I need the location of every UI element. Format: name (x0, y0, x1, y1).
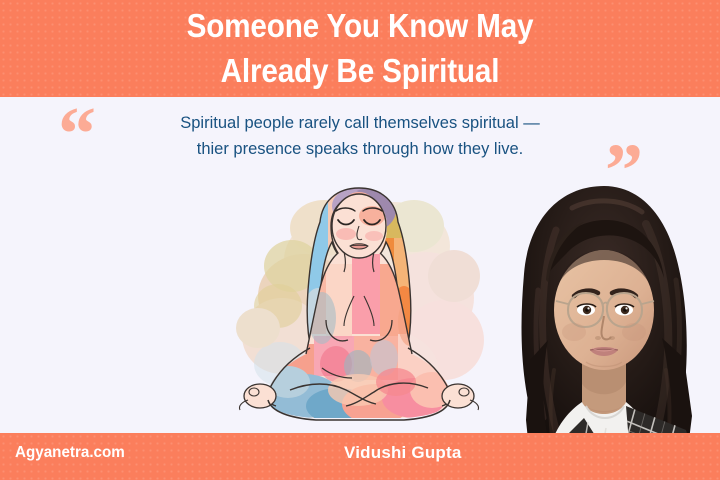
quote-text: Spiritual people rarely call themselves … (120, 110, 600, 162)
site-name[interactable]: Agyanetra.com (15, 444, 125, 462)
page-title: Someone You Know May Already Be Spiritua… (36, 3, 684, 93)
quote-card: Someone You Know May Already Be Spiritua… (0, 0, 720, 480)
header-band: Someone You Know May Already Be Spiritua… (0, 0, 720, 97)
quote-open-mark-icon: “ (58, 96, 94, 172)
speaker-name: Vidushi Gupta (344, 443, 462, 463)
meditation-illustration (218, 168, 500, 440)
